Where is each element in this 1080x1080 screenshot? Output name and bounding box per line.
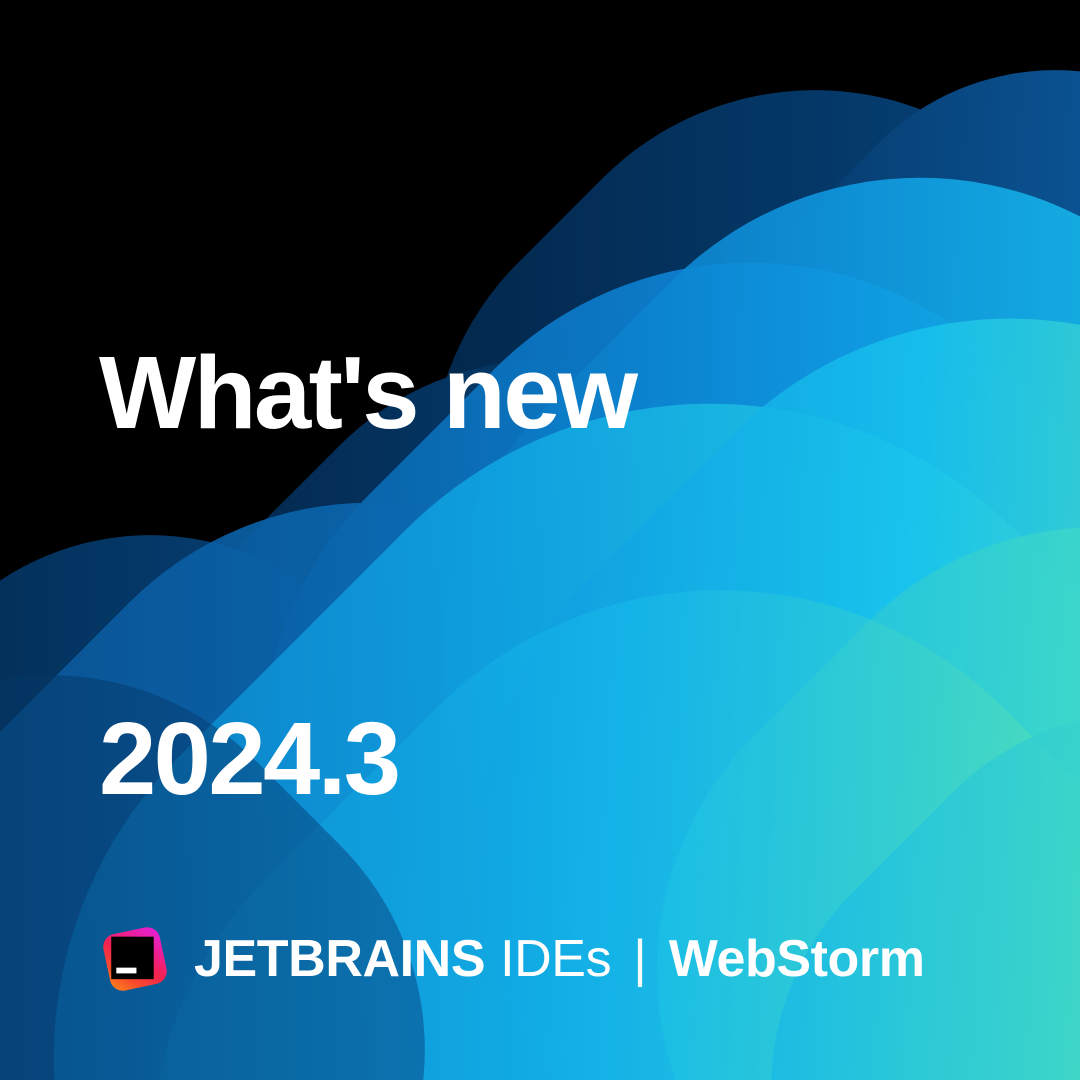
brand-suite: IDEs (500, 929, 611, 989)
title-line-2: 2024.3 (99, 698, 635, 820)
title-line-1: What's new (99, 332, 635, 454)
jetbrains-logo-icon (99, 923, 171, 995)
brand-name: JETBRAINS (194, 929, 485, 989)
brand-text: JETBRAINS IDEs | WebStorm (194, 929, 925, 989)
brand-separator: | (633, 929, 647, 989)
brand-lockup: JETBRAINS IDEs | WebStorm (99, 920, 925, 998)
product-name: WebStorm (669, 929, 925, 989)
promo-card: What's new 2024.3 JETBRAINS (0, 0, 1080, 1080)
page-title: What's new 2024.3 (99, 88, 635, 1064)
